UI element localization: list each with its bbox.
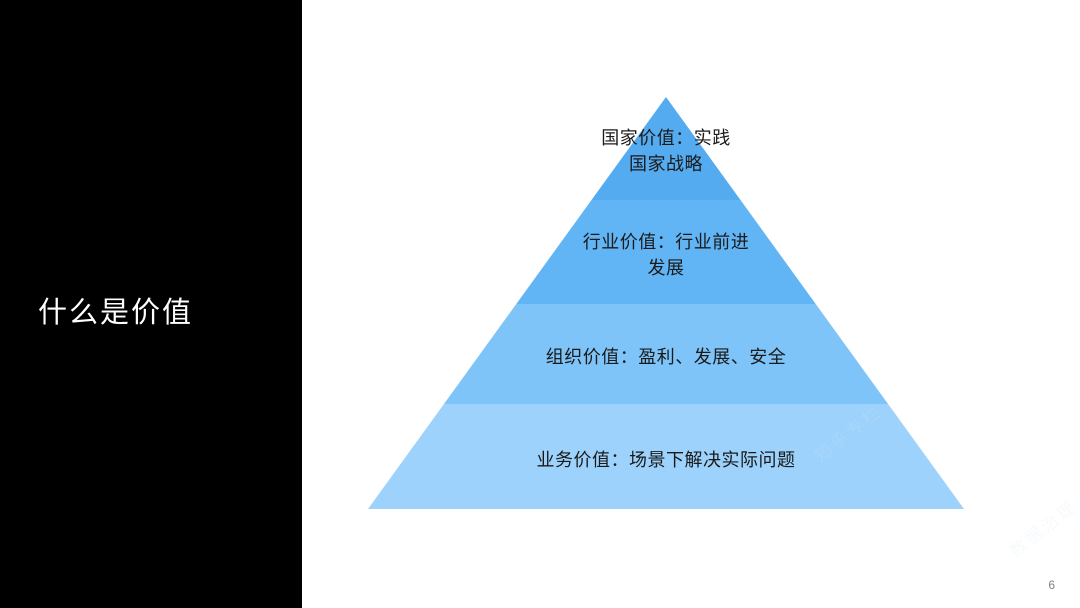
pyramid-tier-3-shape [368,304,964,404]
watermark-line-2: 数据治理 [1003,493,1080,562]
slide-side-panel: 什么是价值 [0,0,302,608]
pyramid-tier-organization-value [368,304,964,404]
page-number: 6 [1048,578,1055,592]
value-pyramid-diagram: 知乎专栏 数据治理 国家价值：实践 国家战略 行业价值：行业前进 发展 组织价值… [368,97,964,509]
triangle-band-3 [368,304,964,404]
pyramid-tier-business-value [368,404,964,509]
pyramid-tier-2-shape [368,200,964,304]
triangle-band-4 [368,404,964,509]
pyramid-tier-national-value [368,97,964,200]
pyramid-tier-industry-value [368,200,964,304]
triangle-band-1 [368,97,964,200]
page-title: 什么是价值 [38,296,288,331]
pyramid-tier-1-shape [368,97,964,200]
slide-canvas: 什么是价值 知乎专栏 数据治理 国家价值： [0,0,1080,608]
triangle-band-2 [368,200,964,304]
pyramid-tier-4-shape [368,404,964,509]
